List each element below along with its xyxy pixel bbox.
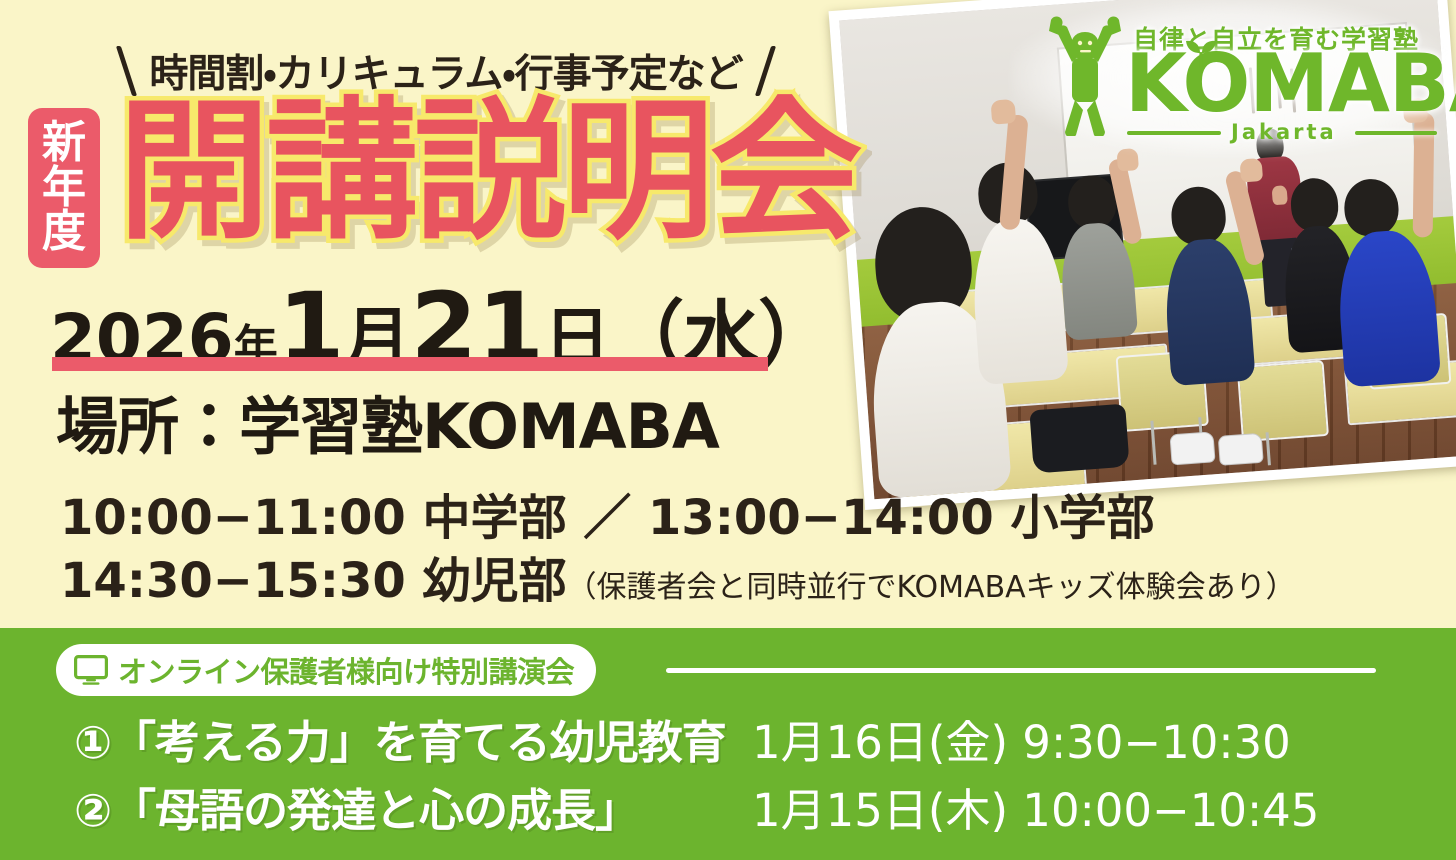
lecture-row-2: ②「母語の発達と心の成長」 1月15日(木) 10:00−10:45 xyxy=(0,774,1456,836)
logo-rule-left xyxy=(1127,131,1221,135)
komaba-logo: 自律と自立を育む学習塾 KOMABA Jakarta xyxy=(1017,4,1447,150)
online-section-label: オンライン保護者様向け特別講演会 xyxy=(118,649,574,691)
new-year-badge: 新 年 度 xyxy=(28,108,100,268)
lecture-2-number: ② xyxy=(74,784,111,837)
lecture-1-number: ① xyxy=(74,716,111,769)
lecture-row-1: ①「考える力」を育てる幼児教育 1月16日(金) 9:30−10:30 xyxy=(0,706,1456,768)
event-place: 場所：学習塾KOMABA xyxy=(56,376,719,466)
schedule-row-1: 10:00−11:00 中学部 ／ 13:00−14:00 小学部 xyxy=(60,478,1154,548)
online-section-pill: オンライン保護者様向け特別講演会 xyxy=(56,644,596,696)
logo-rule-right xyxy=(1355,131,1437,135)
badge-line-3: 度 xyxy=(42,210,86,255)
lecture-1-title-text: 「考える力」を育てる幼児教育 xyxy=(111,716,726,769)
online-section-rule xyxy=(666,668,1376,673)
logo-wordmark: KOMABA xyxy=(1125,44,1456,124)
lecture-2-title: ②「母語の発達と心の成長」 xyxy=(74,774,639,839)
schedule-row-2-note: （保護者会と同時並行でKOMABAキッズ体験会あり） xyxy=(567,570,1296,605)
badge-line-2: 年 xyxy=(42,166,86,211)
monitor-icon xyxy=(74,655,108,685)
logo-location: Jakarta xyxy=(1231,120,1337,144)
lecture-1-title: ①「考える力」を育てる幼児教育 xyxy=(74,706,726,771)
cheering-person-icon xyxy=(1041,12,1129,136)
date-underline xyxy=(52,357,768,371)
lecture-2-when: 1月15日(木) 10:00−10:45 xyxy=(752,774,1319,839)
lecture-1-when: 1月16日(金) 9:30−10:30 xyxy=(752,706,1291,771)
seminar-banner: 自律と自立を育む学習塾 KOMABA Jakarta 時間割・カリキュラム・行事… xyxy=(0,0,1456,860)
schedule-row-2-main: 14:30−15:30 幼児部 xyxy=(60,553,567,609)
badge-line-1: 新 xyxy=(42,121,86,166)
online-section: オンライン保護者様向け特別講演会 ①「考える力」を育てる幼児教育 1月16日(金… xyxy=(0,628,1456,860)
sprout-icon xyxy=(1184,40,1218,68)
page-title: 開講説明会 xyxy=(118,96,858,248)
lecture-2-title-text: 「母語の発達と心の成長」 xyxy=(111,784,639,837)
schedule-row-2: 14:30−15:30 幼児部（保護者会と同時並行でKOMABAキッズ体験会あり… xyxy=(60,541,1296,611)
